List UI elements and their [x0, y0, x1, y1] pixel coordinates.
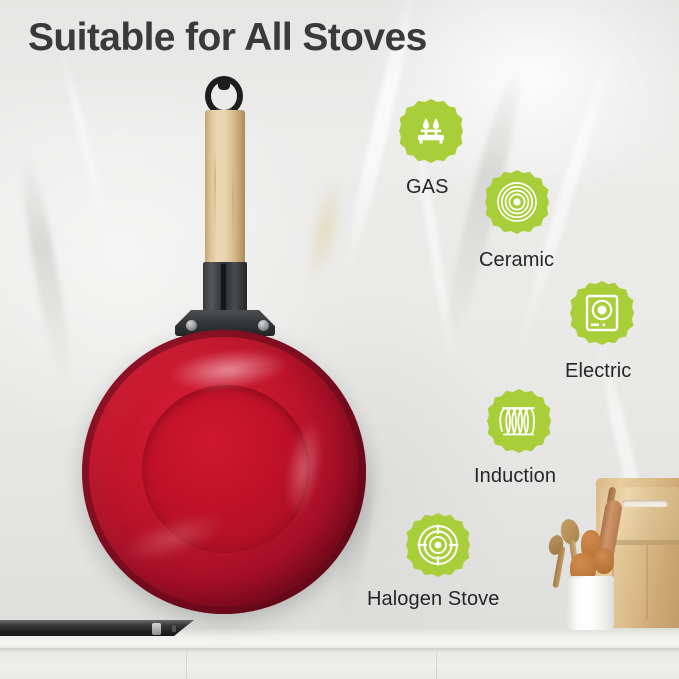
badge-induction[interactable]: [487, 389, 551, 453]
badge-gas[interactable]: [399, 99, 463, 163]
product-feature-image: Suitable for All Stoves: [0, 0, 679, 679]
electric-cooktop-icon: [570, 281, 634, 345]
badge-label-induction: Induction: [474, 465, 556, 488]
ceramic-rings-icon: [485, 170, 549, 234]
bracket-rivet: [186, 320, 197, 331]
ferrule-slot: [221, 264, 226, 312]
badge-label-electric: Electric: [565, 360, 631, 383]
badge-electric[interactable]: [570, 281, 634, 345]
badge-halogen[interactable]: [406, 513, 470, 577]
badge-label-gas: GAS: [406, 176, 449, 199]
hanging-ring-knot: [218, 79, 230, 90]
halogen-target-icon: [406, 513, 470, 577]
wooden-handle: [205, 110, 245, 266]
gas-burner-icon: [399, 99, 463, 163]
badge-label-ceramic: Ceramic: [479, 249, 554, 272]
induction-coil-icon: [487, 389, 551, 453]
bracket-rivet: [258, 320, 269, 331]
badge-label-halogen: Halogen Stove: [367, 588, 500, 611]
badge-ceramic[interactable]: [485, 170, 549, 234]
handle-grain: [214, 150, 216, 240]
handle-grain: [232, 170, 234, 240]
